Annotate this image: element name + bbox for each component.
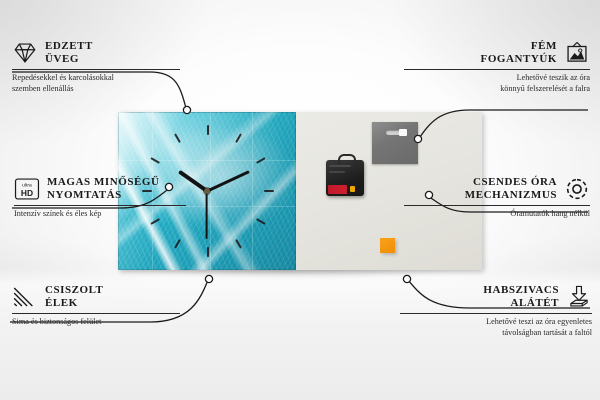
clock-tick: [174, 239, 181, 249]
battery: [328, 185, 362, 194]
feature-header: HABSZIVACS ALÁTÉT: [400, 284, 592, 310]
gear-icon: [564, 176, 590, 202]
feature-header: FÉM FOGANTYÚK: [404, 40, 590, 66]
feature-title: CSISZOLT ÉLEK: [45, 284, 103, 310]
feature-silent-mechanism: CSENDES ÓRA MECHANIZMUS Óramutatók hang …: [404, 176, 590, 220]
feature-metal-handles: FÉM FOGANTYÚK Lehetővé teszik az óra kön…: [404, 40, 590, 94]
svg-text:HD: HD: [21, 188, 33, 198]
feature-header: CSISZOLT ÉLEK: [12, 284, 180, 310]
feature-divider: [12, 313, 180, 314]
clock-tick: [174, 133, 181, 143]
feature-title: FÉM FOGANTYÚK: [481, 40, 557, 66]
clock-tick: [207, 125, 209, 135]
mechanism-detail: [329, 165, 351, 167]
feature-header: CSENDES ÓRA MECHANIZMUS: [404, 176, 590, 202]
feature-title: MAGAS MINŐSÉGŰ NYOMTATÁS: [47, 176, 160, 202]
clock-tick: [235, 133, 242, 143]
feature-title: EDZETT ÜVEG: [45, 40, 93, 66]
clock-tick: [256, 218, 266, 225]
clock-mechanism: [326, 160, 364, 196]
diamond-icon: [12, 40, 38, 66]
picture-hanger-icon: [564, 40, 590, 66]
clock-tick: [150, 157, 160, 164]
hanger-slot: [386, 130, 406, 135]
polished-edge-icon: [12, 284, 38, 310]
infographic-canvas: EDZETT ÜVEG Repedésekkel és karcolásokka…: [0, 0, 600, 400]
metal-hanger-plate: [372, 122, 418, 164]
feature-foam-backing: HABSZIVACS ALÁTÉT Lehetővé teszi az óra …: [400, 284, 592, 338]
mechanism-detail: [329, 171, 345, 173]
feature-tempered-glass: EDZETT ÜVEG Repedésekkel és karcolásokka…: [12, 40, 180, 94]
feature-polished-edges: CSISZOLT ÉLEK Sima és biztonságos felüle…: [12, 284, 180, 328]
clock-tick: [207, 247, 209, 257]
mechanism-hanging-loop: [338, 154, 356, 164]
feature-header: ultra HD MAGAS MINŐSÉGŰ NYOMTATÁS: [14, 176, 186, 202]
ultra-hd-icon: ultra HD: [14, 176, 40, 202]
feature-header: EDZETT ÜVEG: [12, 40, 180, 66]
feature-title: HABSZIVACS ALÁTÉT: [483, 284, 559, 310]
clock-tick: [235, 239, 242, 249]
clock-tick: [256, 157, 266, 164]
foam-pad-icon: [566, 284, 592, 310]
feature-title: CSENDES ÓRA MECHANIZMUS: [465, 176, 557, 202]
clock-center-hub: [204, 188, 210, 194]
feature-divider: [14, 205, 186, 206]
feature-high-quality-print: ultra HD MAGAS MINŐSÉGŰ NYOMTATÁS Intenz…: [14, 176, 186, 220]
clock-second-hand: [206, 191, 208, 239]
clock-tick: [264, 190, 274, 192]
feature-divider: [400, 313, 592, 314]
feature-divider: [12, 69, 180, 70]
feature-divider: [404, 69, 590, 70]
feature-divider: [404, 205, 590, 206]
clock-minute-hand: [206, 170, 249, 192]
foam-pad: [380, 238, 395, 253]
